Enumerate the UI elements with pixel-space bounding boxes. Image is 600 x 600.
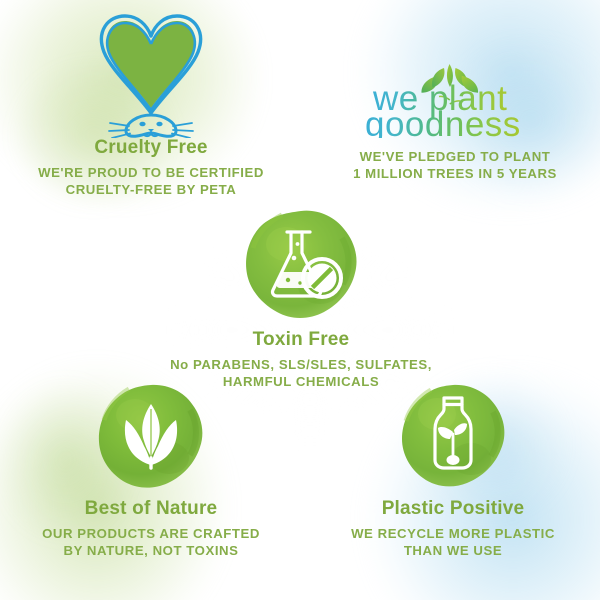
badge-heading: Toxin Free [158, 330, 444, 351]
badge-subtext: WE'VE PLEDGED TO PLANT 1 MILLION TREES I… [312, 148, 598, 182]
badge-toxin-free: Toxin Free No PARABENS, SLS/SLES, SULFAT… [158, 208, 444, 390]
we-plant-goodness-logotype: we plant goodness [360, 58, 550, 136]
badge-cruelty-free: Cruelty Free WE'RE PROUD TO BE CERTIFIED… [8, 10, 294, 198]
badge-subtext: OUR PRODUCTS ARE CRAFTED BY NATURE, NOT … [8, 525, 294, 559]
badge-subtext: WE'RE PROUD TO BE CERTIFIED CRUELTY-FREE… [8, 164, 294, 198]
badge-subtext: WE RECYCLE MORE PLASTIC THAN WE USE [310, 525, 596, 559]
sustainability-claims-poster: Cruelty Free WE'RE PROUD TO BE CERTIFIED… [0, 0, 600, 600]
three-leaves-icon [95, 382, 207, 492]
flask-no-entry-icon [242, 208, 360, 322]
badge-heading: Cruelty Free [8, 138, 294, 159]
badge-heading: Best of Nature [8, 499, 294, 520]
we-plant-goodness-logo-svg: we plant goodness [360, 58, 550, 138]
peta-bunny-heart-icon [85, 10, 217, 138]
logo-line-2: goodness [365, 105, 521, 138]
badge-we-plant-goodness: we plant goodness WE'VE PLEDGED TO PLANT… [312, 58, 598, 182]
badge-heading: Plastic Positive [310, 499, 596, 520]
bottle-sprout-icon [397, 382, 509, 492]
badge-best-of-nature: Best of Nature OUR PRODUCTS ARE CRAFTED … [8, 382, 294, 559]
badge-plastic-positive: Plastic Positive WE RECYCLE MORE PLASTIC… [310, 382, 596, 559]
